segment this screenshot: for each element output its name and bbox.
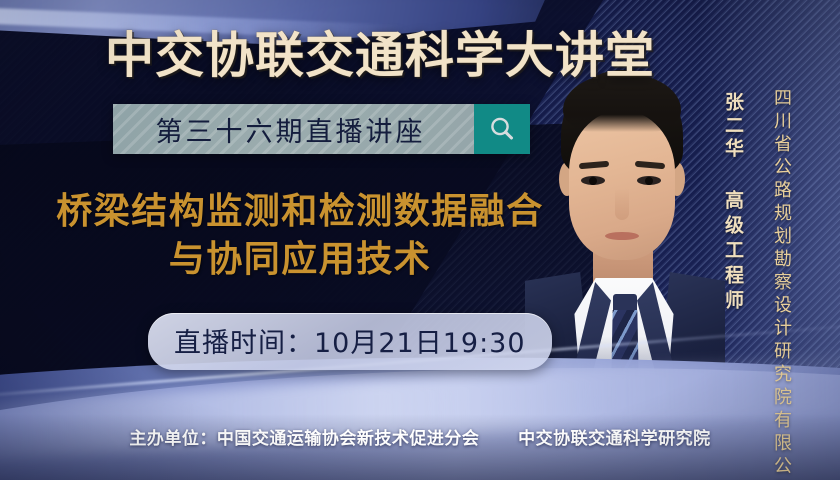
broadcast-time-badge: 直播时间：10月21日19:30 — [148, 313, 552, 370]
search-icon — [487, 114, 517, 144]
lecture-title-line-1: 桥梁结构监测和检测数据融合 — [56, 191, 544, 232]
search-button[interactable] — [474, 104, 530, 154]
portrait-pupil-left — [589, 177, 597, 185]
portrait-nose — [615, 188, 629, 220]
speaker-role: 高级工程师 — [720, 190, 747, 315]
lecture-title-line-2: 与协同应用技术 — [36, 236, 564, 284]
episode-banner: 第三十六期直播讲座 — [113, 104, 530, 154]
portrait-mouth — [605, 232, 639, 240]
organizer-footer: 主办单位：中国交通运输协会新技术促进分会 中交协联交通科学研究院 — [0, 424, 840, 449]
organizer-primary: 主办单位：中国交通运输协会新技术促进分会 — [129, 429, 479, 449]
lecture-title: 桥梁结构监测和检测数据融合 与协同应用技术 — [36, 188, 564, 283]
poster-canvas: 中交协联交通科学大讲堂 第三十六期直播讲座 桥梁结构监测和检测数据融合 与协同应… — [0, 0, 840, 480]
portrait-bottom-fade — [525, 336, 725, 396]
portrait-pupil-right — [645, 177, 653, 185]
page-title: 中交协联交通科学大讲堂 — [0, 16, 760, 87]
speaker-organization: 四川省公路规划勘察设计研究院有限公司 — [768, 88, 794, 480]
speaker-name: 张二华 — [720, 92, 747, 161]
episode-label: 第三十六期直播讲座 — [113, 104, 474, 154]
organizer-secondary: 中交协联交通科学研究院 — [518, 429, 711, 449]
